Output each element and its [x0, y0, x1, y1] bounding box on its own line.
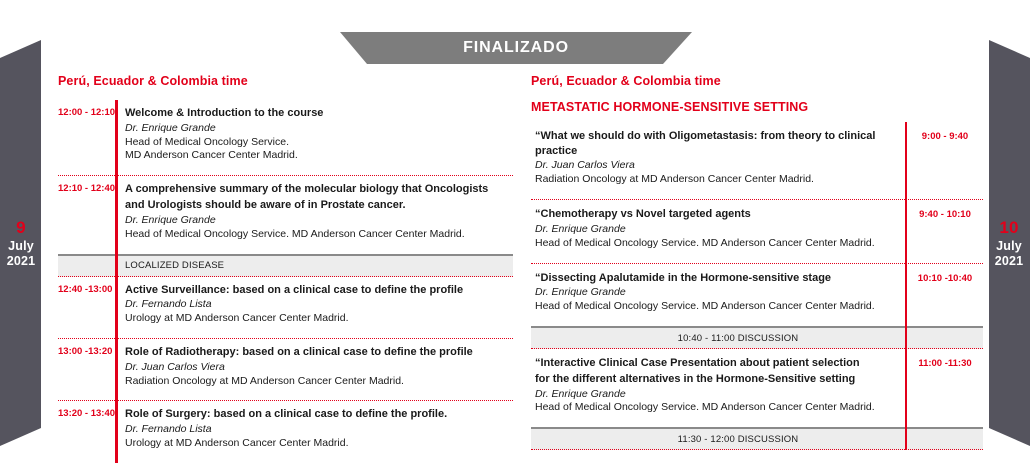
agenda-row-title: A comprehensive summary of the molecular… — [125, 182, 509, 197]
agenda-row-speaker: Dr. Juan Carlos Viera — [125, 361, 509, 375]
agenda-row-title: Role of Surgery: based on a clinical cas… — [125, 407, 509, 422]
agenda-row-time: 9:40 - 10:10 — [907, 200, 983, 262]
agenda-row-time: 13:00 -13:20 — [58, 339, 115, 400]
agenda-row[interactable]: “Dissecting Apalutamide in the Hormone-s… — [531, 263, 983, 326]
agenda-row-affiliation: Urology at MD Anderson Cancer Center Mad… — [125, 312, 509, 326]
agenda-row-speaker: Dr. Fernando Lista — [125, 423, 509, 437]
agenda-row-time: 12:10 - 12:40 — [58, 176, 115, 253]
agenda-row-time: 10:10 -10:40 — [907, 264, 983, 326]
section-band-label: LOCALIZED DISEASE — [58, 260, 224, 271]
agenda-row-body: Role of Surgery: based on a clinical cas… — [115, 401, 513, 462]
agenda-row-body: “Chemotherapy vs Novel targeted agents D… — [531, 200, 907, 262]
discussion-band: 11:30 - 12:00 DISCUSSION — [531, 427, 983, 450]
agenda-row-body: Role of Radiotherapy: based on a clinica… — [115, 339, 513, 400]
agenda-row-affiliation: Urology at MD Anderson Cancer Center Mad… — [125, 437, 509, 451]
agenda-row-affiliation: Radiation Oncology at MD Anderson Cancer… — [125, 375, 509, 389]
agenda-row[interactable]: 12:10 - 12:40 A comprehensive summary of… — [58, 175, 513, 253]
agenda-row-title: “What we should do with Oligometastasis:… — [535, 129, 897, 158]
section-heading-metastatic: METASTATIC HORMONE-SENSITIVE SETTING — [531, 100, 983, 114]
date-year: 2021 — [0, 254, 42, 269]
agenda-row-body: “Dissecting Apalutamide in the Hormone-s… — [531, 264, 907, 326]
agenda-row-title: Role of Radiotherapy: based on a clinica… — [125, 345, 509, 360]
agenda-row[interactable]: 13:20 - 13:40 Role of Surgery: based on … — [58, 400, 513, 462]
timezone-heading-day2: Perú, Ecuador & Colombia time — [531, 74, 983, 88]
timeline-day1: 12:00 - 12:10 Welcome & Introduction to … — [58, 100, 513, 463]
agenda-row-title: for the different alternatives in the Ho… — [535, 372, 897, 387]
agenda-row-title: and Urologists should be aware of in Pro… — [125, 198, 509, 213]
agenda-row-speaker: Dr. Enrique Grande — [535, 286, 897, 300]
timeline-rule — [115, 100, 118, 463]
agenda-row-title: Welcome & Introduction to the course — [125, 106, 509, 121]
agenda-row-time: 12:00 - 12:10 — [58, 100, 115, 175]
agenda-row-time: 13:20 - 13:40 — [58, 401, 115, 462]
agenda-row-body: A comprehensive summary of the molecular… — [115, 176, 513, 253]
agenda-row-title: “Interactive Clinical Case Presentation … — [535, 356, 897, 371]
agenda-row-affiliation: MD Anderson Cancer Center Madrid. — [125, 149, 509, 163]
timeline-day2: “What we should do with Oligometastasis:… — [531, 122, 983, 450]
date-badge-day2: 10 July 2021 — [988, 218, 1030, 269]
agenda-row-speaker: Dr. Enrique Grande — [535, 223, 897, 237]
agenda-row[interactable]: “Chemotherapy vs Novel targeted agents D… — [531, 199, 983, 262]
status-badge-finalizado: FINALIZADO — [340, 32, 692, 64]
timezone-heading-day1: Perú, Ecuador & Colombia time — [58, 74, 513, 88]
date-month: July — [988, 239, 1030, 254]
agenda-row-affiliation: Radiation Oncology at MD Anderson Cancer… — [535, 173, 897, 187]
agenda-row[interactable]: “What we should do with Oligometastasis:… — [531, 122, 983, 199]
discussion-band-label: 10:40 - 11:00 DISCUSSION — [531, 333, 983, 344]
timeline-rule — [905, 122, 908, 450]
date-year: 2021 — [988, 254, 1030, 269]
agenda-row[interactable]: 13:00 -13:20 Role of Radiotherapy: based… — [58, 338, 513, 400]
date-panel-day2: 10 July 2021 — [984, 0, 1030, 450]
agenda-column-day1: Perú, Ecuador & Colombia time 12:00 - 12… — [58, 74, 513, 463]
agenda-row-speaker: Dr. Enrique Grande — [125, 122, 509, 136]
date-day: 9 — [0, 218, 42, 239]
agenda-row-affiliation: Head of Medical Oncology Service. MD And… — [125, 228, 509, 242]
discussion-band-label: 11:30 - 12:00 DISCUSSION — [531, 434, 983, 445]
agenda-row-time: 9:00 - 9:40 — [907, 122, 983, 199]
date-month: July — [0, 239, 42, 254]
agenda-row-body: “What we should do with Oligometastasis:… — [531, 122, 907, 199]
agenda-row-speaker: Dr. Enrique Grande — [535, 388, 897, 402]
agenda-row-affiliation: Head of Medical Oncology Service. MD And… — [535, 237, 897, 251]
agenda-row-time: 12:40 -13:00 — [58, 277, 115, 338]
agenda-row-title: “Chemotherapy vs Novel targeted agents — [535, 207, 897, 222]
agenda-row-speaker: Dr. Enrique Grande — [125, 214, 509, 228]
agenda-row-time: 11:00 -11:30 — [907, 349, 983, 427]
agenda-row-speaker: Dr. Fernando Lista — [125, 298, 509, 312]
agenda-row-affiliation: Head of Medical Oncology Service. MD And… — [535, 300, 897, 314]
agenda-row-body: Welcome & Introduction to the course Dr.… — [115, 100, 513, 175]
agenda-column-day2: Perú, Ecuador & Colombia time METASTATIC… — [531, 74, 983, 450]
agenda-row-affiliation: Head of Medical Oncology Service. MD And… — [535, 401, 897, 415]
agenda-row[interactable]: “Interactive Clinical Case Presentation … — [531, 349, 983, 427]
agenda-row-speaker: Dr. Juan Carlos Viera — [535, 159, 897, 173]
date-panel-day1: 9 July 2021 — [0, 0, 46, 450]
date-day: 10 — [988, 218, 1030, 239]
section-band-localized-disease: LOCALIZED DISEASE — [58, 254, 513, 277]
status-badge-label: FINALIZADO — [463, 39, 569, 57]
agenda-row-body: Active Surveillance: based on a clinical… — [115, 277, 513, 338]
agenda-row-affiliation: Head of Medical Oncology Service. — [125, 136, 509, 150]
agenda-row[interactable]: 12:40 -13:00 Active Surveillance: based … — [58, 277, 513, 338]
agenda-row-body: “Interactive Clinical Case Presentation … — [531, 349, 907, 427]
date-badge-day1: 9 July 2021 — [0, 218, 42, 269]
agenda-row[interactable]: 12:00 - 12:10 Welcome & Introduction to … — [58, 100, 513, 175]
discussion-band: 10:40 - 11:00 DISCUSSION — [531, 326, 983, 349]
agenda-row-title: “Dissecting Apalutamide in the Hormone-s… — [535, 271, 897, 286]
agenda-row-title: Active Surveillance: based on a clinical… — [125, 283, 509, 298]
